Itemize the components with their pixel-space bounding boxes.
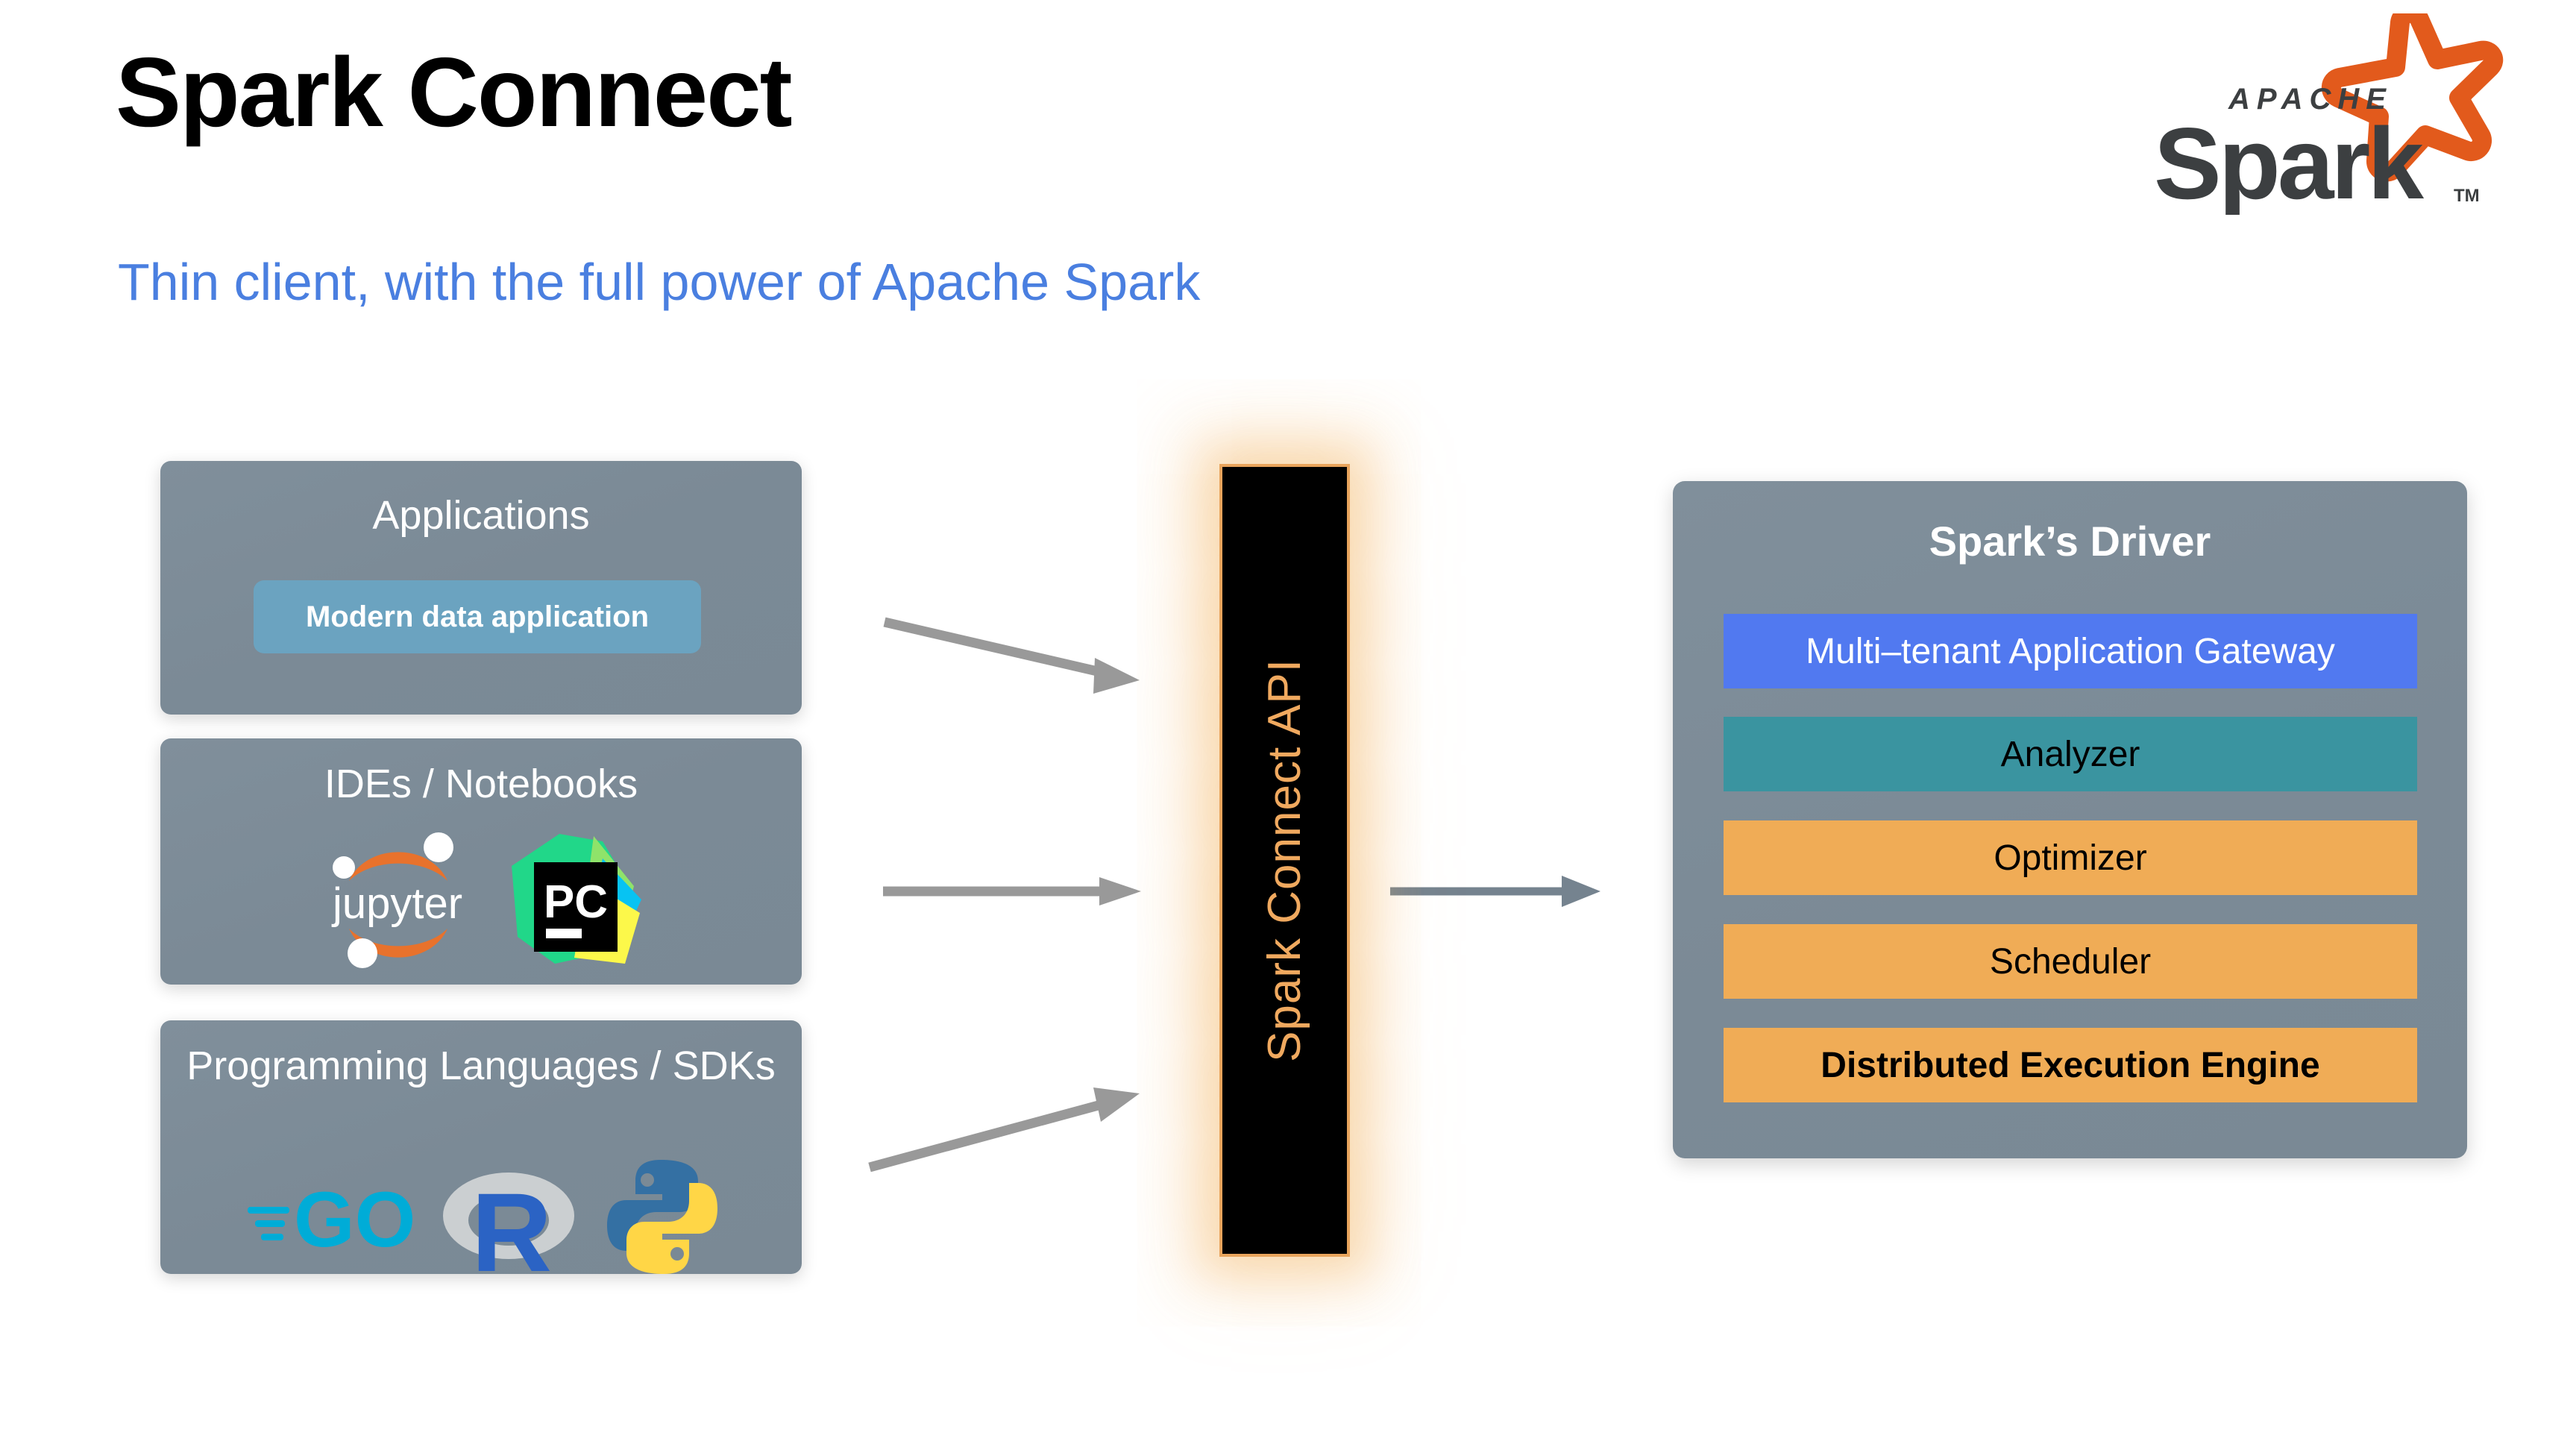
r-letter: R	[471, 1170, 552, 1282]
slide-canvas: Spark Connect Thin client, with the full…	[0, 0, 2576, 1447]
spark-driver-panel[interactable]: Spark’s Driver Multi–tenant Application …	[1673, 481, 2467, 1158]
client-box-applications[interactable]: Applications Modern data application	[160, 461, 802, 715]
logo-spark-word: Spark	[2154, 107, 2424, 215]
driver-row-label: Distributed Execution Engine	[1821, 1045, 2319, 1086]
driver-row-distributed-execution-engine[interactable]: Distributed Execution Engine	[1724, 1028, 2417, 1102]
go-wordmark: GO	[294, 1176, 415, 1264]
driver-row-label: Optimizer	[1994, 838, 2146, 879]
pycharm-logo: PC	[506, 825, 644, 970]
modern-data-application-label: Modern data application	[306, 600, 649, 634]
language-logo-row: GO R	[160, 1153, 802, 1280]
client-box-title: IDEs / Notebooks	[160, 761, 802, 807]
driver-row-multi-tenant-application-gateway[interactable]: Multi–tenant Application Gateway	[1724, 614, 2417, 688]
modern-data-application-pill[interactable]: Modern data application	[254, 580, 701, 653]
arrow-api-to-driver	[1387, 865, 1626, 917]
jupyter-logo: jupyter	[319, 823, 476, 972]
driver-row-label: Analyzer	[2001, 734, 2140, 775]
driver-row-analyzer[interactable]: Analyzer	[1724, 717, 2417, 791]
logo-trademark: TM	[2454, 186, 2480, 206]
client-box-title: Applications	[160, 492, 802, 539]
go-logo: GO	[240, 1168, 419, 1265]
client-box-programming-languages[interactable]: Programming Languages / SDKs GO R	[160, 1020, 802, 1274]
ide-logo-row: jupyter PC	[160, 819, 802, 976]
jupyter-wordmark: jupyter	[330, 879, 462, 928]
spark-connect-api-label: Spark Connect API	[1258, 659, 1311, 1062]
arrow-ides-to-api	[880, 858, 1178, 925]
arrow-applications-to-api	[880, 612, 1178, 716]
client-box-ides-notebooks[interactable]: IDEs / Notebooks jupyter PC	[160, 738, 802, 985]
pycharm-underscore-icon	[546, 929, 582, 938]
apache-spark-logo: APACHE Spark TM	[2133, 13, 2521, 215]
driver-row-optimizer[interactable]: Optimizer	[1724, 820, 2417, 895]
spark-driver-title: Spark’s Driver	[1673, 517, 2467, 565]
arrow-languages-to-api	[865, 1044, 1178, 1178]
driver-row-scheduler[interactable]: Scheduler	[1724, 924, 2417, 999]
page-title: Spark Connect	[116, 41, 791, 145]
pycharm-pc-label: PC	[543, 876, 607, 928]
client-box-title: Programming Languages / SDKs	[160, 1043, 802, 1089]
spark-connect-api-bar[interactable]: Spark Connect API	[1219, 464, 1350, 1257]
python-logo	[603, 1155, 722, 1278]
driver-row-label: Multi–tenant Application Gateway	[1806, 631, 2335, 672]
r-logo: R	[440, 1152, 582, 1282]
driver-row-label: Scheduler	[1990, 941, 2151, 982]
page-subtitle: Thin client, with the full power of Apac…	[118, 254, 1200, 311]
